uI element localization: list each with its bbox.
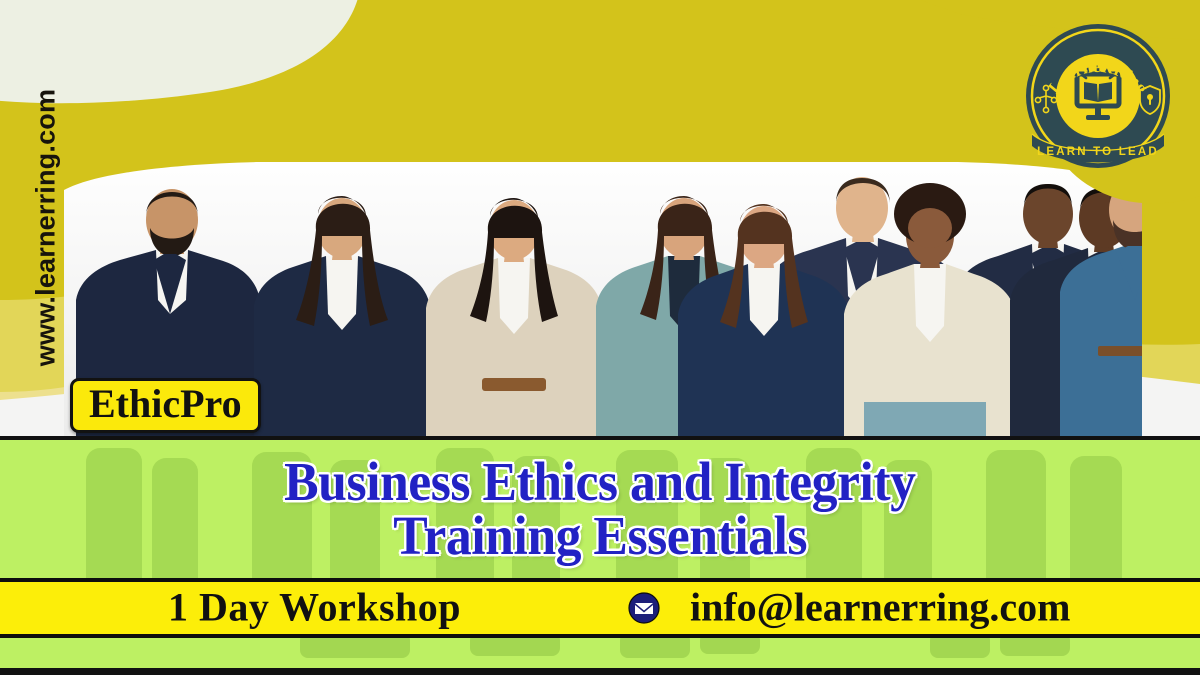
envelope-icon (628, 592, 660, 624)
event-title: Business Ethics and Integrity Training E… (0, 440, 1200, 578)
silhouette-shape (470, 638, 560, 656)
event-title-line-2: Training Essentials (393, 509, 807, 563)
event-title-line-1: Business Ethics and Integrity (284, 455, 915, 509)
silhouette-shape (1000, 638, 1070, 656)
ethicpro-label: EthicPro (89, 384, 242, 424)
ethicpro-badge: EthicPro (70, 378, 261, 433)
contact-email[interactable]: info@learnerring.com (690, 584, 1070, 631)
event-poster: www.learnerring.com (0, 0, 1200, 675)
learnerring-logo[interactable]: LearneRRing LEARN TO LEAD (1024, 22, 1172, 170)
bottom-green-strip (0, 638, 1200, 668)
workshop-duration-label: 1 Day Workshop (168, 584, 461, 631)
person-10 (1060, 178, 1148, 436)
silhouette-shape (620, 638, 690, 658)
info-bar: 1 Day Workshop info@learnerring.com (0, 578, 1200, 638)
logo-tagline-text: LEARN TO LEAD (1037, 146, 1159, 158)
footer-bar (0, 668, 1200, 675)
website-vertical-text: www.learnerring.com (31, 78, 62, 378)
hero-section: www.learnerring.com (0, 0, 1200, 436)
silhouette-shape (300, 638, 410, 658)
silhouette-shape (700, 638, 760, 654)
title-band: Business Ethics and Integrity Training E… (0, 436, 1200, 578)
silhouette-shape (930, 638, 990, 658)
